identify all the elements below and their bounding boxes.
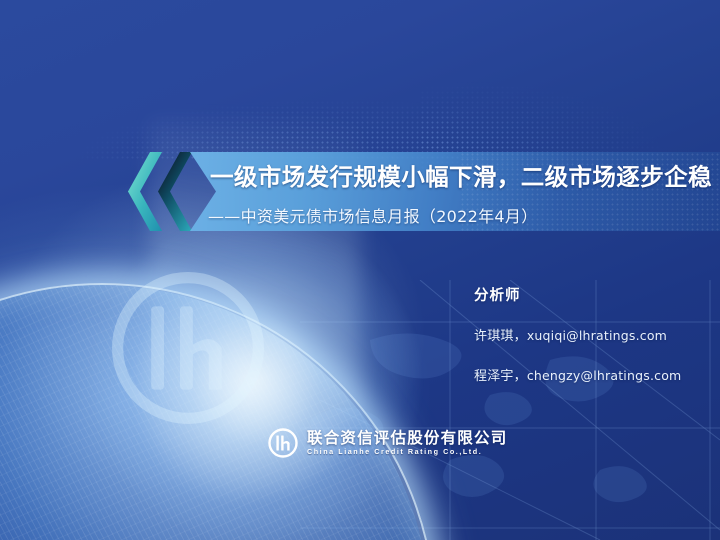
chevron-left-icon-dark bbox=[158, 152, 192, 231]
analyst-section: 分析师 许琪琪，xuqiqi@lhratings.com 程泽宇，chengzy… bbox=[474, 284, 681, 405]
analyst-section-title: 分析师 bbox=[474, 284, 681, 305]
page-title: 一级市场发行规模小幅下滑，二级市场逐步企稳 bbox=[210, 158, 720, 192]
analyst-email[interactable]: chengzy@lhratings.com bbox=[527, 368, 682, 383]
lh-monogram-watermark bbox=[108, 268, 268, 428]
analyst-email[interactable]: xuqiqi@lhratings.com bbox=[527, 328, 667, 343]
company-name-group: 联合资信评估股份有限公司 China Lianhe Credit Rating … bbox=[307, 431, 507, 456]
title-slide: 一级市场发行规模小幅下滑，二级市场逐步企稳 ——中资美元债市场信息月报（2022… bbox=[0, 0, 720, 540]
company-logo-block: 联合资信评估股份有限公司 China Lianhe Credit Rating … bbox=[268, 428, 507, 458]
lianhe-logo-icon bbox=[268, 428, 298, 458]
company-name-en: China Lianhe Credit Rating Co.,Ltd. bbox=[307, 448, 507, 455]
page-subtitle: ——中资美元债市场信息月报（2022年4月） bbox=[208, 203, 720, 227]
analyst-row: 程泽宇，chengzy@lhratings.com bbox=[474, 365, 681, 384]
company-name-cn: 联合资信评估股份有限公司 bbox=[307, 431, 507, 447]
dotted-world-map-pattern-right bbox=[420, 20, 720, 170]
chevron-left-icon bbox=[128, 152, 162, 231]
analyst-name: 程泽宇， bbox=[474, 369, 527, 384]
analyst-name: 许琪琪， bbox=[474, 329, 527, 344]
analyst-row: 许琪琪，xuqiqi@lhratings.com bbox=[474, 325, 681, 344]
